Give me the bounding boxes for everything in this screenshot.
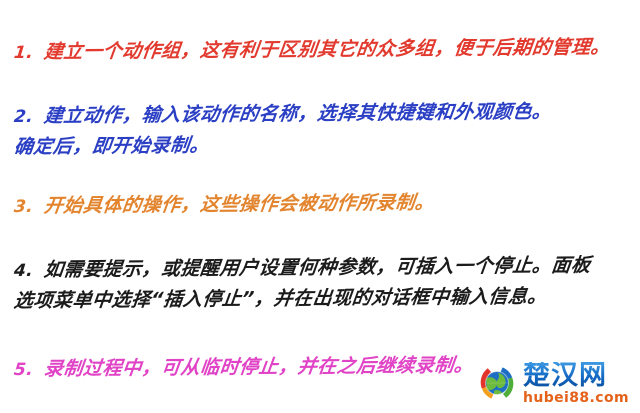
watermark-wordmark: 楚汉网 hubei88.com <box>523 362 629 405</box>
note-index: 4. <box>13 260 45 283</box>
note-item-4: 4.如需要提示，或提醒用户设置何种参数，可插入一个停止。面板 选项菜单中选择“插… <box>14 258 632 315</box>
site-watermark: 楚汉网 hubei88.com <box>474 357 634 409</box>
note-text: 开始具体的操作，这些操作会被动作所录制。 <box>43 191 436 220</box>
note-row: 3.开始具体的操作，这些操作会被动作所录制。 <box>14 194 632 219</box>
watermark-domain: hubei88.com <box>523 391 629 405</box>
note-text: 选项菜单中选择“插入停止”，并在出现的对话框中输入信息。 <box>13 285 549 315</box>
globe-swirl-icon <box>474 360 520 406</box>
note-row: 4.如需要提示，或提醒用户设置何种参数，可插入一个停止。面板 <box>14 258 632 283</box>
note-row: 2.建立动作，输入该动作的名称，选择其快捷键和外观颜色。 <box>14 104 632 129</box>
note-index: 1. <box>13 42 45 65</box>
note-row: 1.建立一个动作组，这有利于区别其它的众多组，便于后期的管理。 <box>14 40 632 65</box>
watermark-site-name: 楚汉网 <box>523 362 629 389</box>
note-canvas: 1.建立一个动作组，这有利于区别其它的众多组，便于后期的管理。 2.建立动作，输… <box>0 0 640 413</box>
note-text: 建立动作，输入该动作的名称，选择其快捷键和外观颜色。 <box>43 100 553 130</box>
note-text: 如需要提示，或提醒用户设置何种参数，可插入一个停止。面板 <box>43 253 592 283</box>
note-index: 5. <box>13 359 45 382</box>
note-text: 录制过程中，可从临时停止，并在之后继续录制。 <box>43 353 475 382</box>
note-row: 选项菜单中选择“插入停止”，并在出现的对话框中输入信息。 <box>14 289 632 314</box>
note-text: 建立一个动作组，这有利于区别其它的众多组，便于后期的管理。 <box>43 35 612 65</box>
note-item-1: 1.建立一个动作组，这有利于区别其它的众多组，便于后期的管理。 <box>14 40 632 65</box>
note-item-3: 3.开始具体的操作，这些操作会被动作所录制。 <box>14 194 632 219</box>
note-index: 2. <box>13 106 45 129</box>
note-item-2: 2.建立动作，输入该动作的名称，选择其快捷键和外观颜色。 确定后，即开始录制。 <box>14 104 632 161</box>
note-index: 3. <box>13 196 45 219</box>
note-text: 确定后，即开始录制。 <box>13 134 211 161</box>
note-row: 确定后，即开始录制。 <box>14 135 632 160</box>
